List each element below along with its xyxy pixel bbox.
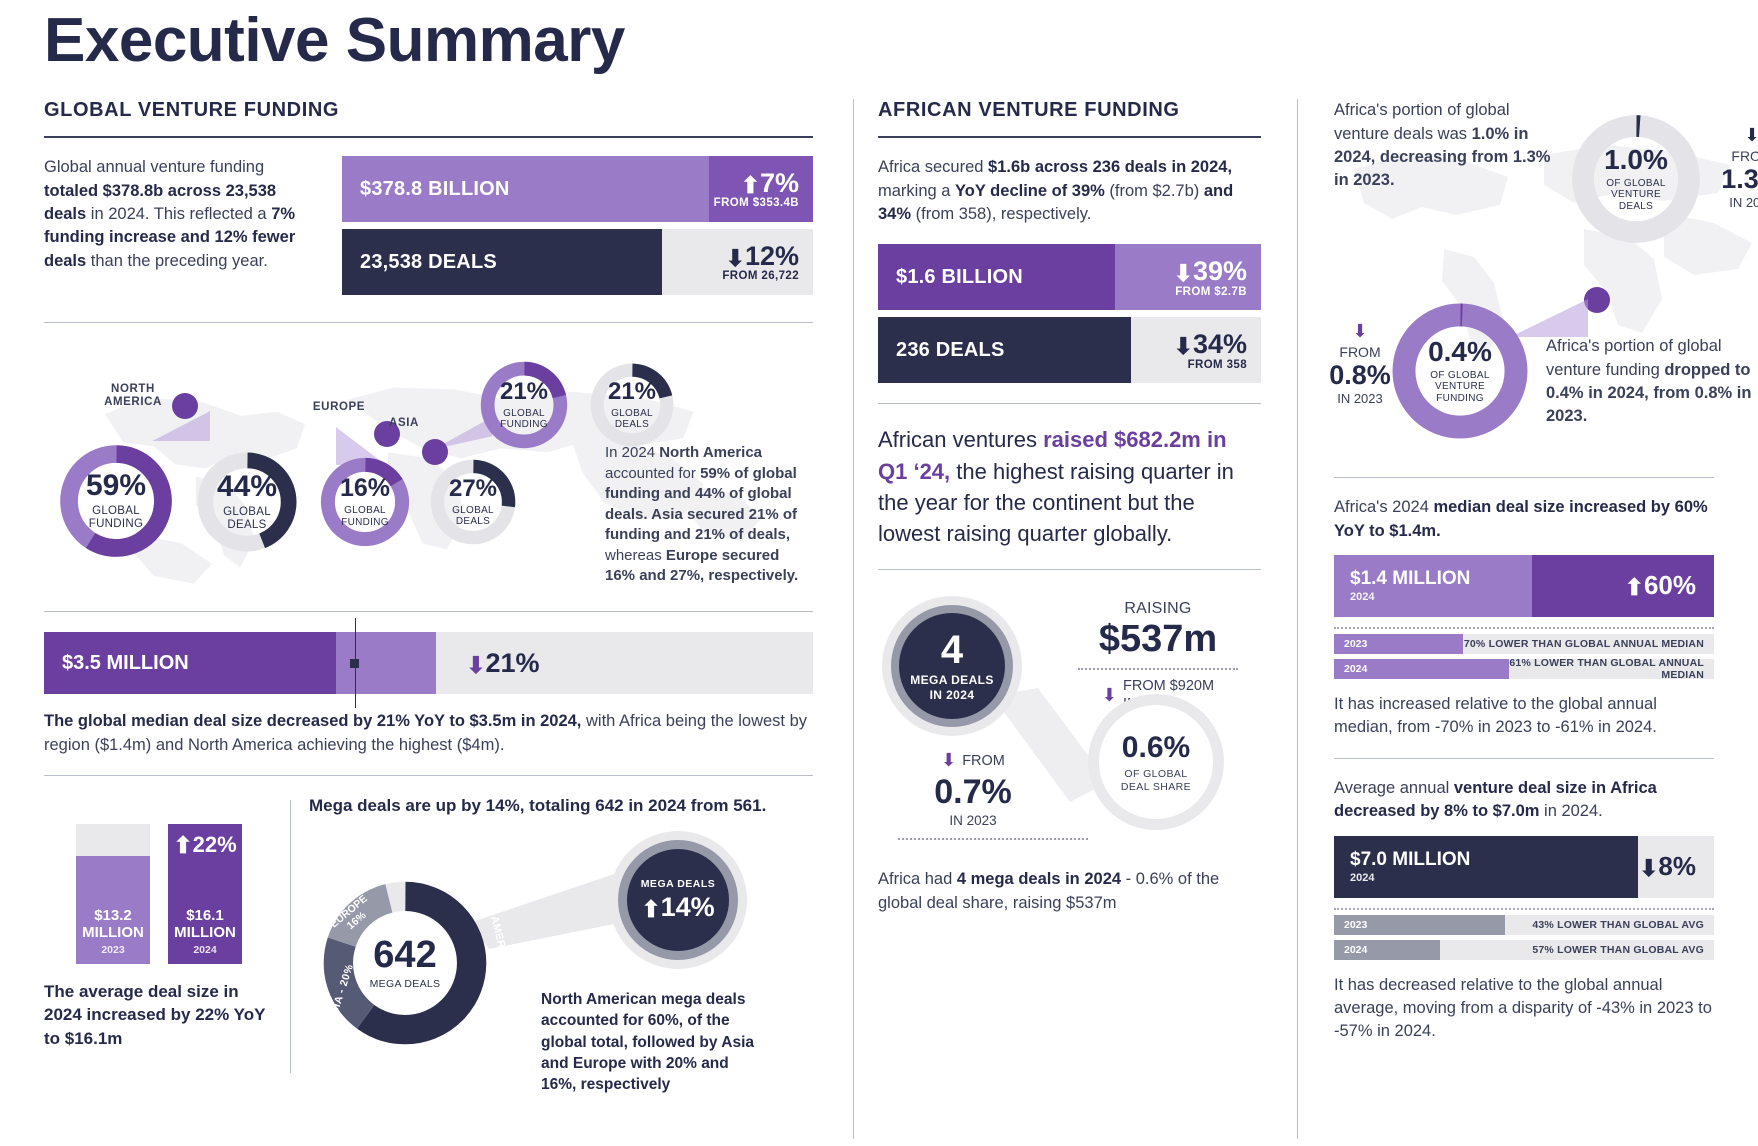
global-stat-bars: $378.8 BILLION ⬆7% FROM $353.4B 23,538 D… bbox=[342, 156, 813, 302]
africa-section-heading: AFRICAN VENTURE FUNDING bbox=[878, 99, 1261, 122]
mega-deals-donut: 642 MEGA DEALS NORTH AMERICA - 60% ASIA … bbox=[317, 875, 493, 1051]
africa-median-row-2023: 2023 70% LOWER THAN GLOBAL ANNUAL MEDIAN bbox=[1334, 634, 1714, 654]
divider bbox=[1334, 758, 1714, 759]
deal-share-caption: OF GLOBALDEAL SHARE bbox=[1121, 768, 1191, 793]
divider bbox=[44, 611, 813, 612]
africa-funding-from: FROM $2.7B bbox=[1174, 286, 1247, 298]
donut-value: 21% bbox=[608, 380, 656, 404]
dotted-divider bbox=[1334, 908, 1714, 910]
arrow-up-icon: ⬆ bbox=[173, 832, 192, 858]
mega-deals-badge: MEGA DEALS ⬆14% bbox=[627, 849, 729, 951]
global-funding-bar: $378.8 BILLION ⬆7% FROM $353.4B bbox=[342, 156, 813, 222]
donut-caption: OF GLOBALVENTUREDEALS bbox=[1606, 178, 1665, 213]
row-year: 2023 bbox=[1334, 915, 1505, 935]
raising-value: $537m bbox=[1078, 620, 1238, 658]
pin-label-europe: EUROPE bbox=[306, 401, 372, 414]
africa-deals-value: 236 DEALS bbox=[878, 339, 1005, 362]
arrow-down-icon: ⬇ bbox=[1174, 333, 1193, 359]
donut-value: 16% bbox=[340, 476, 390, 501]
africa-deals-bar: 236 DEALS ⬇34% FROM 358 bbox=[878, 317, 1261, 383]
mega-deals-note: North American mega deals accounted for … bbox=[541, 989, 755, 1094]
africa-mega-ring: 4 MEGA DEALSIN 2024 bbox=[891, 605, 1013, 727]
donut-value: 1.0% bbox=[1604, 146, 1668, 174]
divider bbox=[878, 403, 1261, 404]
global-intro-paragraph: Global annual venture funding totaled $3… bbox=[44, 156, 320, 273]
avg-deal-year-2023: 2023 bbox=[82, 944, 144, 956]
deals-prev-year: IN 2023 bbox=[1716, 195, 1758, 210]
global-section-heading: GLOBAL VENTURE FUNDING bbox=[44, 99, 813, 122]
africa-deals-delta: 34% bbox=[1193, 329, 1247, 359]
mega-badge-caption: MEGA DEALS bbox=[641, 878, 716, 890]
deals-prev-value: 1.3% bbox=[1716, 166, 1758, 193]
prev-share-value: 0.7% bbox=[898, 775, 1048, 809]
africa-median-bar: $1.4 MILLION 2024 ⬆60% bbox=[1334, 555, 1714, 617]
row-year: 2023 bbox=[1334, 634, 1463, 654]
deal-share-value: 0.6% bbox=[1122, 731, 1190, 765]
median-tick-marker bbox=[350, 659, 359, 668]
divider bbox=[1334, 477, 1714, 478]
avg-deal-amount-2023: $13.2MILLION bbox=[82, 908, 144, 942]
deals-prev-from: FROM bbox=[1716, 148, 1758, 164]
donut-europe-funding: 16% GLOBALFUNDING bbox=[316, 453, 414, 551]
arrow-down-icon: ⬇ bbox=[726, 245, 745, 271]
pin-north-america bbox=[172, 393, 198, 419]
africa-funding-delta: 39% bbox=[1193, 256, 1247, 286]
row-text: 70% LOWER THAN GLOBAL ANNUAL MEDIAN bbox=[1463, 638, 1714, 650]
africa-mega-deals-graphic: 4 MEGA DEALSIN 2024 RAISING $537m bbox=[878, 590, 1261, 860]
africa-median-row-2024: 2024 61% LOWER THAN GLOBAL ANNUAL MEDIAN bbox=[1334, 659, 1714, 679]
content-columns: GLOBAL VENTURE FUNDING Global annual ven… bbox=[44, 99, 1714, 1139]
global-venture-funding-section: GLOBAL VENTURE FUNDING Global annual ven… bbox=[44, 99, 839, 1139]
pin-label-asia: ASIA bbox=[384, 417, 424, 430]
mega-deals-total: 642 bbox=[373, 936, 436, 974]
africa-intro-paragraph: Africa secured $1.6b across 236 deals in… bbox=[878, 156, 1261, 226]
africa-median-year: 2024 bbox=[1350, 591, 1532, 603]
global-deals-delta: 12% bbox=[745, 241, 799, 271]
global-bottom-row: $13.2MILLION 2023 ⬆22% bbox=[44, 794, 813, 1073]
section-divider bbox=[878, 136, 1261, 138]
raising-from: FROM $920M bbox=[1123, 678, 1214, 695]
mega-deals-graphic: 642 MEGA DEALS NORTH AMERICA - 60% ASIA … bbox=[309, 823, 813, 1073]
donut-value: 44% bbox=[217, 472, 277, 502]
africa-mega-count-caption: MEGA DEALSIN 2024 bbox=[910, 673, 994, 702]
mega-deals-badge-outer: MEGA DEALS ⬆14% bbox=[609, 831, 747, 969]
funding-prev-year: IN 2023 bbox=[1324, 391, 1396, 406]
africa-mega-count-badge: 4 MEGA DEALSIN 2024 bbox=[899, 613, 1005, 719]
africa-mega-count: 4 bbox=[941, 630, 963, 670]
africa-middle-column: AFRICAN VENTURE FUNDING Africa secured $… bbox=[868, 99, 1283, 1139]
africa-deals-share-prev: ⬇ FROM 1.3% IN 2023 bbox=[1716, 125, 1758, 210]
donut-north-america-funding: 59% GLOBALFUNDING bbox=[54, 439, 178, 563]
donut-europe-deals: 27% GLOBALDEALS bbox=[426, 455, 520, 549]
median-deal-delta: ⬇21% bbox=[436, 648, 539, 679]
africa-median-delta: ⬆60% bbox=[1625, 570, 1696, 601]
divider bbox=[44, 322, 813, 323]
avg-deal-bar-2023: $13.2MILLION 2023 bbox=[76, 824, 150, 964]
africa-deal-share-badge: 0.6% OF GLOBALDEAL SHARE bbox=[1099, 705, 1213, 819]
africa-median-footer: It has increased relative to the global … bbox=[1334, 693, 1714, 740]
row-text: 57% LOWER THAN GLOBAL AVG bbox=[1440, 944, 1714, 956]
donut-africa-global-funding: 0.4% OF GLOBALVENTUREFUNDING bbox=[1386, 297, 1534, 445]
raising-label: RAISING bbox=[1078, 600, 1238, 618]
global-deals-value: 23,538 DEALS bbox=[342, 251, 497, 274]
main-column-divider bbox=[853, 99, 854, 1139]
africa-average-bar: $7.0 MILLION 2024 ⬇8% bbox=[1334, 836, 1714, 898]
donut-caption: GLOBALFUNDING bbox=[89, 505, 144, 531]
donut-north-america-deals: 44% GLOBALDEALS bbox=[192, 447, 302, 557]
global-funding-value: $378.8 BILLION bbox=[342, 178, 510, 201]
funding-prev-from: FROM bbox=[1324, 344, 1396, 360]
mega-deals-widget: Mega deals are up by 14%, totaling 642 i… bbox=[309, 794, 813, 1073]
africa-inner-divider bbox=[1297, 99, 1298, 1139]
africa-average-row-2024: 2024 57% LOWER THAN GLOBAL AVG bbox=[1334, 940, 1714, 960]
arrow-down-icon: ⬇ bbox=[466, 652, 485, 678]
average-deal-size-widget: $13.2MILLION 2023 ⬆22% bbox=[44, 794, 290, 1073]
africa-funding-share-note: Africa's portion of global venture fundi… bbox=[1546, 335, 1758, 429]
africa-average-amount: $7.0 MILLION bbox=[1350, 850, 1638, 870]
arrow-down-icon: ⬇ bbox=[941, 750, 956, 771]
arrow-up-icon: ⬆ bbox=[641, 896, 660, 922]
donut-caption: GLOBALFUNDING bbox=[500, 408, 548, 431]
arrow-down-icon: ⬇ bbox=[1102, 685, 1117, 706]
prev-share-year: IN 2023 bbox=[898, 813, 1048, 828]
donut-caption: GLOBALDEALS bbox=[223, 506, 271, 532]
global-funding-delta: 7% bbox=[760, 168, 799, 198]
africa-median-note: Africa's 2024 median deal size increased… bbox=[1334, 496, 1714, 543]
divider bbox=[290, 800, 291, 1073]
dotted-divider bbox=[1334, 627, 1714, 629]
donut-caption: GLOBALDEALS bbox=[452, 505, 494, 528]
africa-median-amount: $1.4 MILLION bbox=[1350, 569, 1532, 589]
donut-africa-global-deals: 1.0% OF GLOBALVENTUREDEALS bbox=[1566, 109, 1706, 249]
section-divider bbox=[44, 136, 813, 138]
arrow-up-icon: ⬆ bbox=[741, 172, 760, 198]
donut-value: 0.4% bbox=[1428, 338, 1492, 366]
arrow-down-icon: ⬇ bbox=[1324, 321, 1396, 342]
africa-quote: African ventures raised $682.2m in Q1 ‘2… bbox=[878, 424, 1261, 549]
africa-median-widget: Africa's 2024 median deal size increased… bbox=[1334, 496, 1714, 740]
global-map-note: In 2024 North America accounted for 59% … bbox=[605, 443, 813, 587]
global-deals-bar: 23,538 DEALS ⬇12% FROM 26,722 bbox=[342, 229, 813, 295]
africa-deals-share-note: Africa's portion of global venture deals… bbox=[1334, 99, 1560, 193]
median-deal-value: $3.5 MILLION bbox=[44, 652, 189, 675]
arrow-up-icon: ⬆ bbox=[1625, 574, 1644, 600]
africa-prev-share-block: ⬇ FROM 0.7% IN 2023 bbox=[898, 750, 1048, 840]
africa-average-delta: ⬇8% bbox=[1639, 851, 1696, 882]
infographic-page: Executive Summary GLOBAL VENTURE FUNDING… bbox=[0, 0, 1758, 1146]
africa-right-column: Africa's portion of global venture deals… bbox=[1312, 99, 1714, 1139]
africa-average-note: Average annual venture deal size in Afri… bbox=[1334, 777, 1714, 824]
donut-caption: GLOBALDEALS bbox=[611, 408, 653, 431]
global-deals-from: FROM 26,722 bbox=[722, 270, 799, 282]
page-title: Executive Summary bbox=[44, 0, 1714, 73]
african-venture-funding-section: AFRICAN VENTURE FUNDING Africa secured $… bbox=[868, 99, 1714, 1139]
mega-deals-headline: Mega deals are up by 14%, totaling 642 i… bbox=[309, 794, 813, 817]
africa-mega-footer: Africa had 4 mega deals in 2024 - 0.6% o… bbox=[878, 868, 1261, 915]
donut-asia-deals: 21% GLOBALDEALS bbox=[586, 359, 678, 451]
africa-funding-value: $1.6 BILLION bbox=[878, 266, 1023, 289]
avg-deal-column-chart: $13.2MILLION 2023 ⬆22% bbox=[44, 794, 276, 964]
row-text: 61% LOWER THAN GLOBAL ANNUAL MEDIAN bbox=[1509, 657, 1714, 681]
mega-deals-badge-ring: MEGA DEALS ⬆14% bbox=[618, 840, 738, 960]
mega-deals-total-caption: MEGA DEALS bbox=[370, 978, 441, 990]
donut-value: 21% bbox=[500, 380, 548, 404]
donut-value: 59% bbox=[86, 471, 146, 501]
divider bbox=[878, 569, 1261, 570]
donut-asia-funding: 21% GLOBALFUNDING bbox=[476, 357, 572, 453]
donut-caption: GLOBALFUNDING bbox=[341, 505, 389, 528]
row-year: 2024 bbox=[1334, 659, 1509, 679]
avg-deal-caption: The average deal size in 2024 increased … bbox=[44, 980, 276, 1050]
pin-label-north-america: NORTH AMERICA bbox=[100, 383, 166, 409]
row-text: 43% LOWER THAN GLOBAL AVG bbox=[1505, 919, 1714, 931]
funding-prev-value: 0.8% bbox=[1324, 362, 1396, 389]
africa-mega-outer: 4 MEGA DEALSIN 2024 bbox=[882, 596, 1022, 736]
divider bbox=[44, 775, 813, 776]
donut-value: 27% bbox=[449, 477, 497, 501]
africa-global-share-graphic: Africa's portion of global venture deals… bbox=[1334, 99, 1714, 459]
africa-deal-share-outer: 0.6% OF GLOBALDEAL SHARE bbox=[1088, 694, 1224, 830]
global-median-caption: The global median deal size decreased by… bbox=[44, 710, 813, 757]
avg-deal-bar-2024: ⬆22% $16.1MILLION 2024 bbox=[168, 824, 242, 964]
africa-average-widget: Average annual venture deal size in Afri… bbox=[1334, 777, 1714, 1044]
africa-funding-bar: $1.6 BILLION ⬇39% FROM $2.7B bbox=[878, 244, 1261, 310]
avg-deal-delta: ⬆22% bbox=[173, 832, 236, 859]
avg-deal-year-2024: 2024 bbox=[174, 944, 236, 956]
global-region-map: NORTH AMERICA EUROPE ASIA 59% GLOBALFUND… bbox=[44, 343, 813, 591]
global-median-deal-bar: $3.5 MILLION ⬇21% bbox=[44, 632, 813, 694]
africa-deals-from: FROM 358 bbox=[1174, 359, 1247, 371]
donut-caption: OF GLOBALVENTUREFUNDING bbox=[1430, 370, 1489, 405]
mega-badge-value: ⬆14% bbox=[641, 892, 714, 923]
row-year: 2024 bbox=[1334, 940, 1440, 960]
africa-funding-share-prev: ⬇ FROM 0.8% IN 2023 bbox=[1324, 321, 1396, 406]
africa-average-row-2023: 2023 43% LOWER THAN GLOBAL AVG bbox=[1334, 915, 1714, 935]
arrow-down-icon: ⬇ bbox=[1174, 260, 1193, 286]
africa-average-footer: It has decreased relative to the global … bbox=[1334, 974, 1714, 1044]
arrow-down-icon: ⬇ bbox=[1716, 125, 1758, 146]
global-funding-from: FROM $353.4B bbox=[714, 197, 799, 209]
arrow-down-icon: ⬇ bbox=[1639, 855, 1658, 881]
africa-stat-bars: $1.6 BILLION ⬇39% FROM $2.7B 236 DEALS bbox=[878, 244, 1261, 383]
africa-average-year: 2024 bbox=[1350, 872, 1638, 884]
avg-deal-amount-2024: $16.1MILLION bbox=[174, 908, 236, 942]
prev-share-from: FROM bbox=[962, 753, 1005, 769]
